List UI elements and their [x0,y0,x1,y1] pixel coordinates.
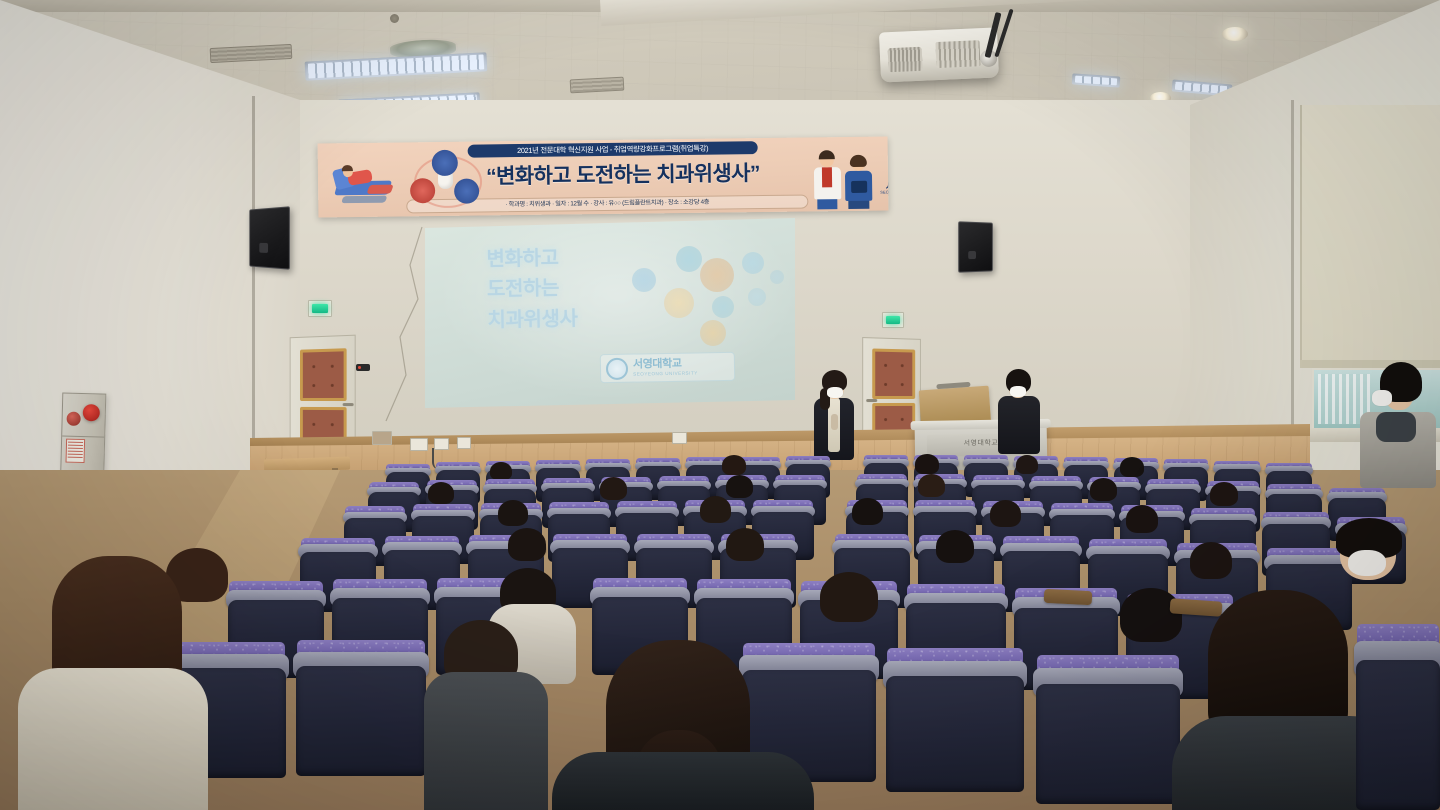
lecture-hall-photo: 2021년 전문대학 혁신지원 사업 - 취업역량강화프로그램(취업특강) “변… [0,0,1440,810]
tooth-badge-icon-3 [454,179,479,204]
door-left-handle[interactable] [343,403,354,406]
audience-head [1120,588,1182,642]
banner-main-title: “변화하고 도전하는 치과위생사” [448,157,798,191]
ceiling-downlight-1 [1222,27,1248,41]
door-access-panel[interactable] [356,364,370,371]
audience-head [1126,505,1158,533]
slide-university-logo: 서영대학교 SEOYEONG UNIVERSITY [600,352,735,383]
wall-speaker-left [249,206,290,269]
stage-assistant [995,368,1043,464]
wall-crack [360,225,450,425]
slide-avatar-bubble-1 [676,246,702,272]
audience-head [1210,482,1238,506]
banner-header-text: 2021년 전문대학 혁신지원 사업 - 취업역량강화프로그램(취업특강) [468,141,758,158]
slide-search-bubble [748,288,766,306]
audience-head [600,477,627,500]
wall-corner-right [1291,100,1294,462]
fire-alarm-button[interactable] [66,412,80,426]
fire-alarm-bell-icon[interactable] [83,404,100,421]
audience-head [915,454,939,474]
slide-avatar-bubble-4 [742,252,764,274]
seat [1036,684,1180,804]
audience-head [726,528,764,561]
banner-hygienist-illustration [842,155,877,209]
observer-face-mask [1372,390,1392,406]
audience-head [726,475,753,498]
audience-head [820,572,878,622]
ceiling-projector [879,27,999,82]
slide-logo-english: SEOYEONG UNIVERSITY [633,371,698,377]
slide-avatar-bubble-3 [632,268,656,292]
wall-panel-box [372,431,392,445]
slide-dot-bubble [770,270,784,284]
wall-outlet-3[interactable] [457,437,471,449]
audience-head [936,530,974,563]
audience-head [428,482,454,504]
audience-head [990,500,1021,527]
fire-cabinet-label [66,439,86,463]
seat [886,676,1024,792]
audience-head [918,474,945,497]
sprinkler-head [390,14,399,23]
projector-vent-grille [888,47,923,72]
wall-outlet-1[interactable] [410,438,428,451]
banner-header-band: 2021년 전문대학 혁신지원 사업 - 취업역량강화프로그램(취업특강) [468,141,758,158]
banner-dentist-illustration [810,149,845,209]
banner-logo-english: SEOYEONG UNIVERSITY [880,189,888,195]
audience-head [1016,455,1038,474]
emergency-exit-sign-right [882,312,904,328]
wall-outlet-4[interactable] [672,432,687,444]
slide-avatar-bubble-7 [700,320,726,346]
seat-armrest [1044,589,1093,605]
door-right-panel-upper [872,348,915,399]
window-roller-blind[interactable] [1300,105,1440,367]
door-left-panel-upper [300,348,347,401]
audience-head [1120,457,1144,477]
dental-chair-icon [332,161,395,206]
slide-avatar-bubble-6 [712,296,734,318]
seat [1356,660,1440,810]
audience-coat [424,672,548,810]
seat [296,666,426,776]
audience-coat [18,668,208,810]
slide-seal-icon [606,357,628,379]
presenter-face-mask [827,387,843,398]
slide-line-3: 치과위생사 [487,302,678,336]
tooth-badge-icon-2 [410,178,435,203]
observer-scarf [1376,412,1416,442]
audience-head [1190,542,1232,579]
audience-coat [552,752,814,810]
audience-head [1090,478,1117,501]
door-right-handle[interactable] [866,399,877,402]
emergency-exit-sign-left [308,300,332,317]
presenter-microphone [831,414,838,430]
tooth-badge-icon-1 [432,150,458,176]
air-vent-center [570,77,625,94]
wall-corner-left [252,96,255,468]
event-banner: 2021년 전문대학 혁신지원 사업 - 취업역량강화프로그램(취업특강) “변… [318,137,889,218]
audience-head [722,455,746,475]
audience-face-mask [1348,550,1386,576]
wall-speaker-right [958,221,993,272]
assistant-face-mask [1010,386,1026,397]
banner-university-logo: 서영대학교 SEOYEONG UNIVERSITY [880,150,889,199]
slide-avatar-bubble-2 [700,258,734,292]
slide-logo-korean: 서영대학교 [633,358,698,370]
audience-head [508,528,546,561]
projector-top-grille [935,40,980,68]
audience-head [700,496,731,523]
standing-observer [1358,358,1440,488]
audience-head [498,500,528,526]
audience-head [490,462,512,480]
audience-head [852,498,883,525]
assistant-coat [998,396,1040,454]
slide-avatar-bubble-5 [664,288,694,318]
microphone-stand-icon [936,382,970,389]
